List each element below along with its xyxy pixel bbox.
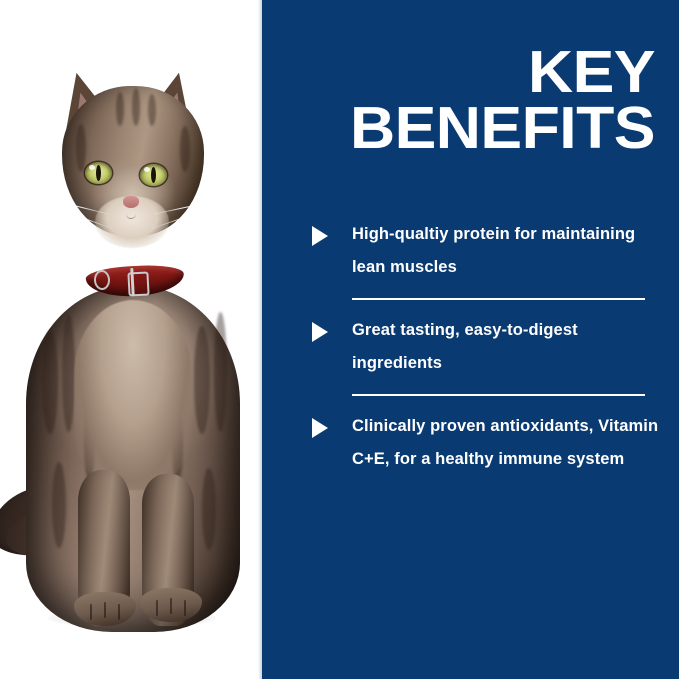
cat-eye-right (140, 164, 167, 186)
key-benefits-infographic: KEY BENEFITS High-qualtiy protein for ma… (0, 0, 679, 679)
cat-mouth (126, 209, 136, 219)
benefits-panel: KEY BENEFITS High-qualtiy protein for ma… (262, 0, 679, 679)
list-item: Clinically proven antioxidants, Vitamin … (262, 410, 679, 476)
cat-nose (123, 196, 139, 208)
cat-photo (0, 0, 262, 679)
list-divider (352, 394, 645, 396)
benefit-text: High-qualtiy protein for maintaining lea… (352, 218, 661, 284)
cat-chest-fur (74, 300, 192, 490)
play-triangle-icon (312, 322, 328, 342)
list-item: Great tasting, easy-to-digest ingredient… (262, 314, 679, 380)
cat-photo-panel (0, 0, 262, 679)
page-title: KEY BENEFITS (238, 44, 655, 156)
benefit-text: Great tasting, easy-to-digest ingredient… (352, 314, 661, 380)
list-item: High-qualtiy protein for maintaining lea… (262, 218, 679, 284)
benefit-text: Clinically proven antioxidants, Vitamin … (352, 410, 661, 476)
cat-eye-left (85, 162, 112, 184)
benefits-list: High-qualtiy protein for maintaining lea… (262, 218, 679, 476)
play-triangle-icon (312, 226, 328, 246)
play-triangle-icon (312, 418, 328, 438)
title-line-2: BENEFITS (238, 100, 655, 156)
list-divider (352, 298, 645, 300)
